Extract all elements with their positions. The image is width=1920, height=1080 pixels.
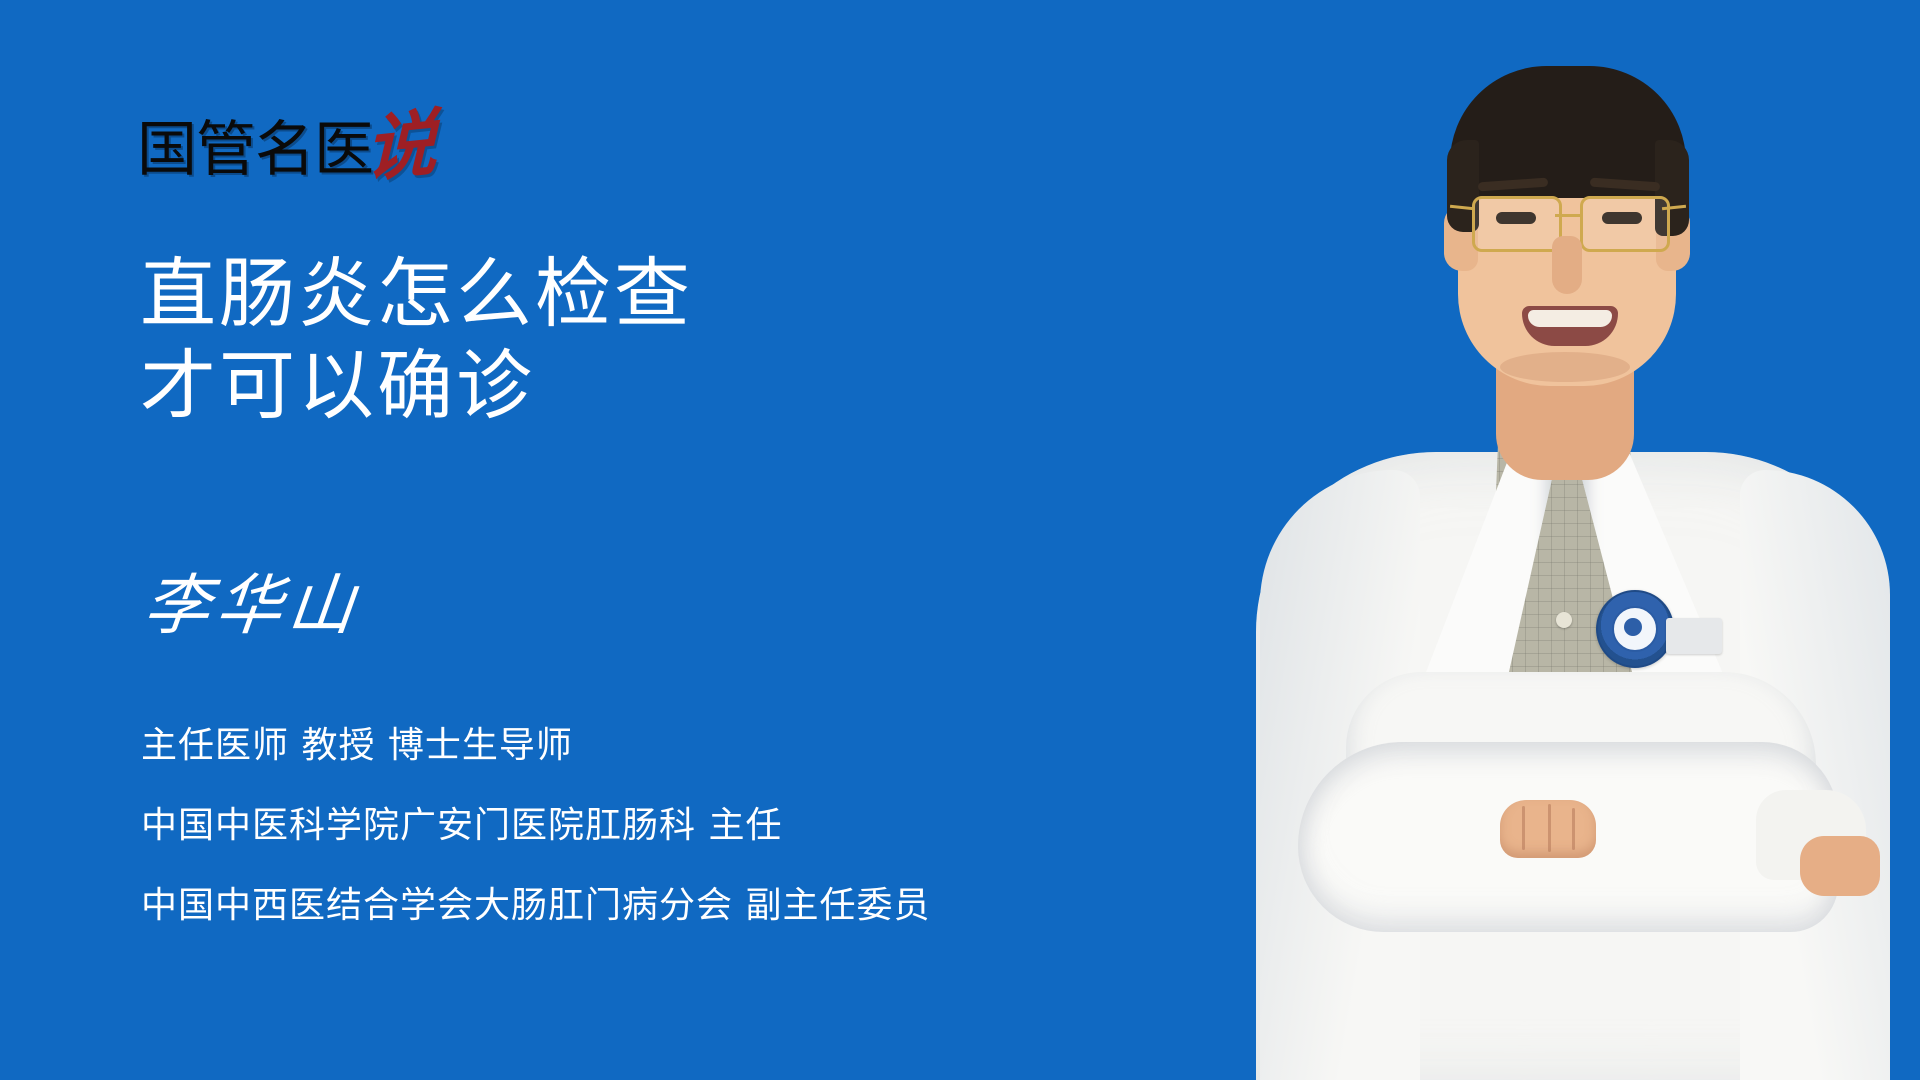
title-line-1: 直肠炎怎么检查 [140, 248, 1040, 340]
ear-right [1656, 205, 1690, 271]
coat-lapel-left [1414, 446, 1552, 776]
name-tag [1666, 618, 1722, 654]
checkered-shirt [1486, 432, 1642, 732]
doctor-credentials: 主任医师 教授 博士生导师 中国中医科学院广安门医院肛肠科 主任 中国中西医结合… [141, 724, 930, 928]
coat-lapel-right [1582, 446, 1730, 776]
white-coat-shade-left [1260, 470, 1420, 1080]
credential-line-3: 中国中西医结合学会大肠肛门病分会 副主任委员 [141, 884, 930, 928]
arm-lower-crossed [1298, 742, 1838, 932]
program-logo-main-text: 国管名医 [137, 120, 373, 180]
program-logo: 国管名医 说 [137, 108, 437, 180]
glasses-temple-left [1450, 205, 1474, 210]
coat-cuff-right [1756, 790, 1866, 880]
white-coat [1256, 452, 1886, 1080]
glasses-temple-right [1662, 205, 1686, 210]
eyebrow-right [1590, 178, 1660, 192]
hand-right [1800, 836, 1880, 896]
arm-upper-crossed [1346, 672, 1816, 832]
credential-line-1: 主任医师 教授 博士生导师 [141, 724, 930, 768]
program-logo-accent-text: 说 [365, 106, 437, 186]
eye-left [1496, 212, 1536, 224]
hospital-badge [1596, 590, 1674, 668]
white-coat-shade-right [1740, 470, 1890, 1080]
eye-right [1602, 212, 1642, 224]
doctor-name: 李华山 [140, 567, 364, 645]
hair-side-right [1655, 140, 1689, 236]
shirt-button [1556, 612, 1572, 628]
hospital-badge-inner [1612, 606, 1658, 652]
doctor-portrait-image [1200, 0, 1920, 1080]
video-cover-slide: 国管名医 说 直肠炎怎么检查 才可以确诊 李华山 主任医师 教授 博士生导师 中… [0, 0, 1920, 1080]
hospital-badge-emblem [1624, 618, 1642, 636]
glasses-lens-right [1580, 196, 1670, 252]
credential-line-2: 中国中医科学院广安门医院肛肠科 主任 [141, 804, 930, 848]
hair-side-left [1447, 140, 1479, 232]
hand-left [1500, 800, 1596, 858]
teeth [1528, 310, 1612, 327]
finger-crease-3 [1572, 808, 1575, 850]
page-title: 直肠炎怎么检查 才可以确诊 [140, 248, 1040, 432]
ear-left [1444, 205, 1478, 271]
glasses-bridge [1555, 214, 1582, 217]
head [1458, 86, 1676, 386]
title-line-2: 才可以确诊 [140, 340, 1040, 432]
hair [1450, 66, 1686, 198]
eyebrow-left [1478, 178, 1548, 192]
finger-crease-2 [1548, 804, 1551, 852]
chin-shadow [1500, 352, 1630, 382]
nose [1552, 236, 1582, 294]
mouth [1522, 306, 1618, 346]
neck [1496, 330, 1634, 480]
glasses-lens-left [1472, 196, 1562, 252]
finger-crease-1 [1522, 806, 1525, 850]
